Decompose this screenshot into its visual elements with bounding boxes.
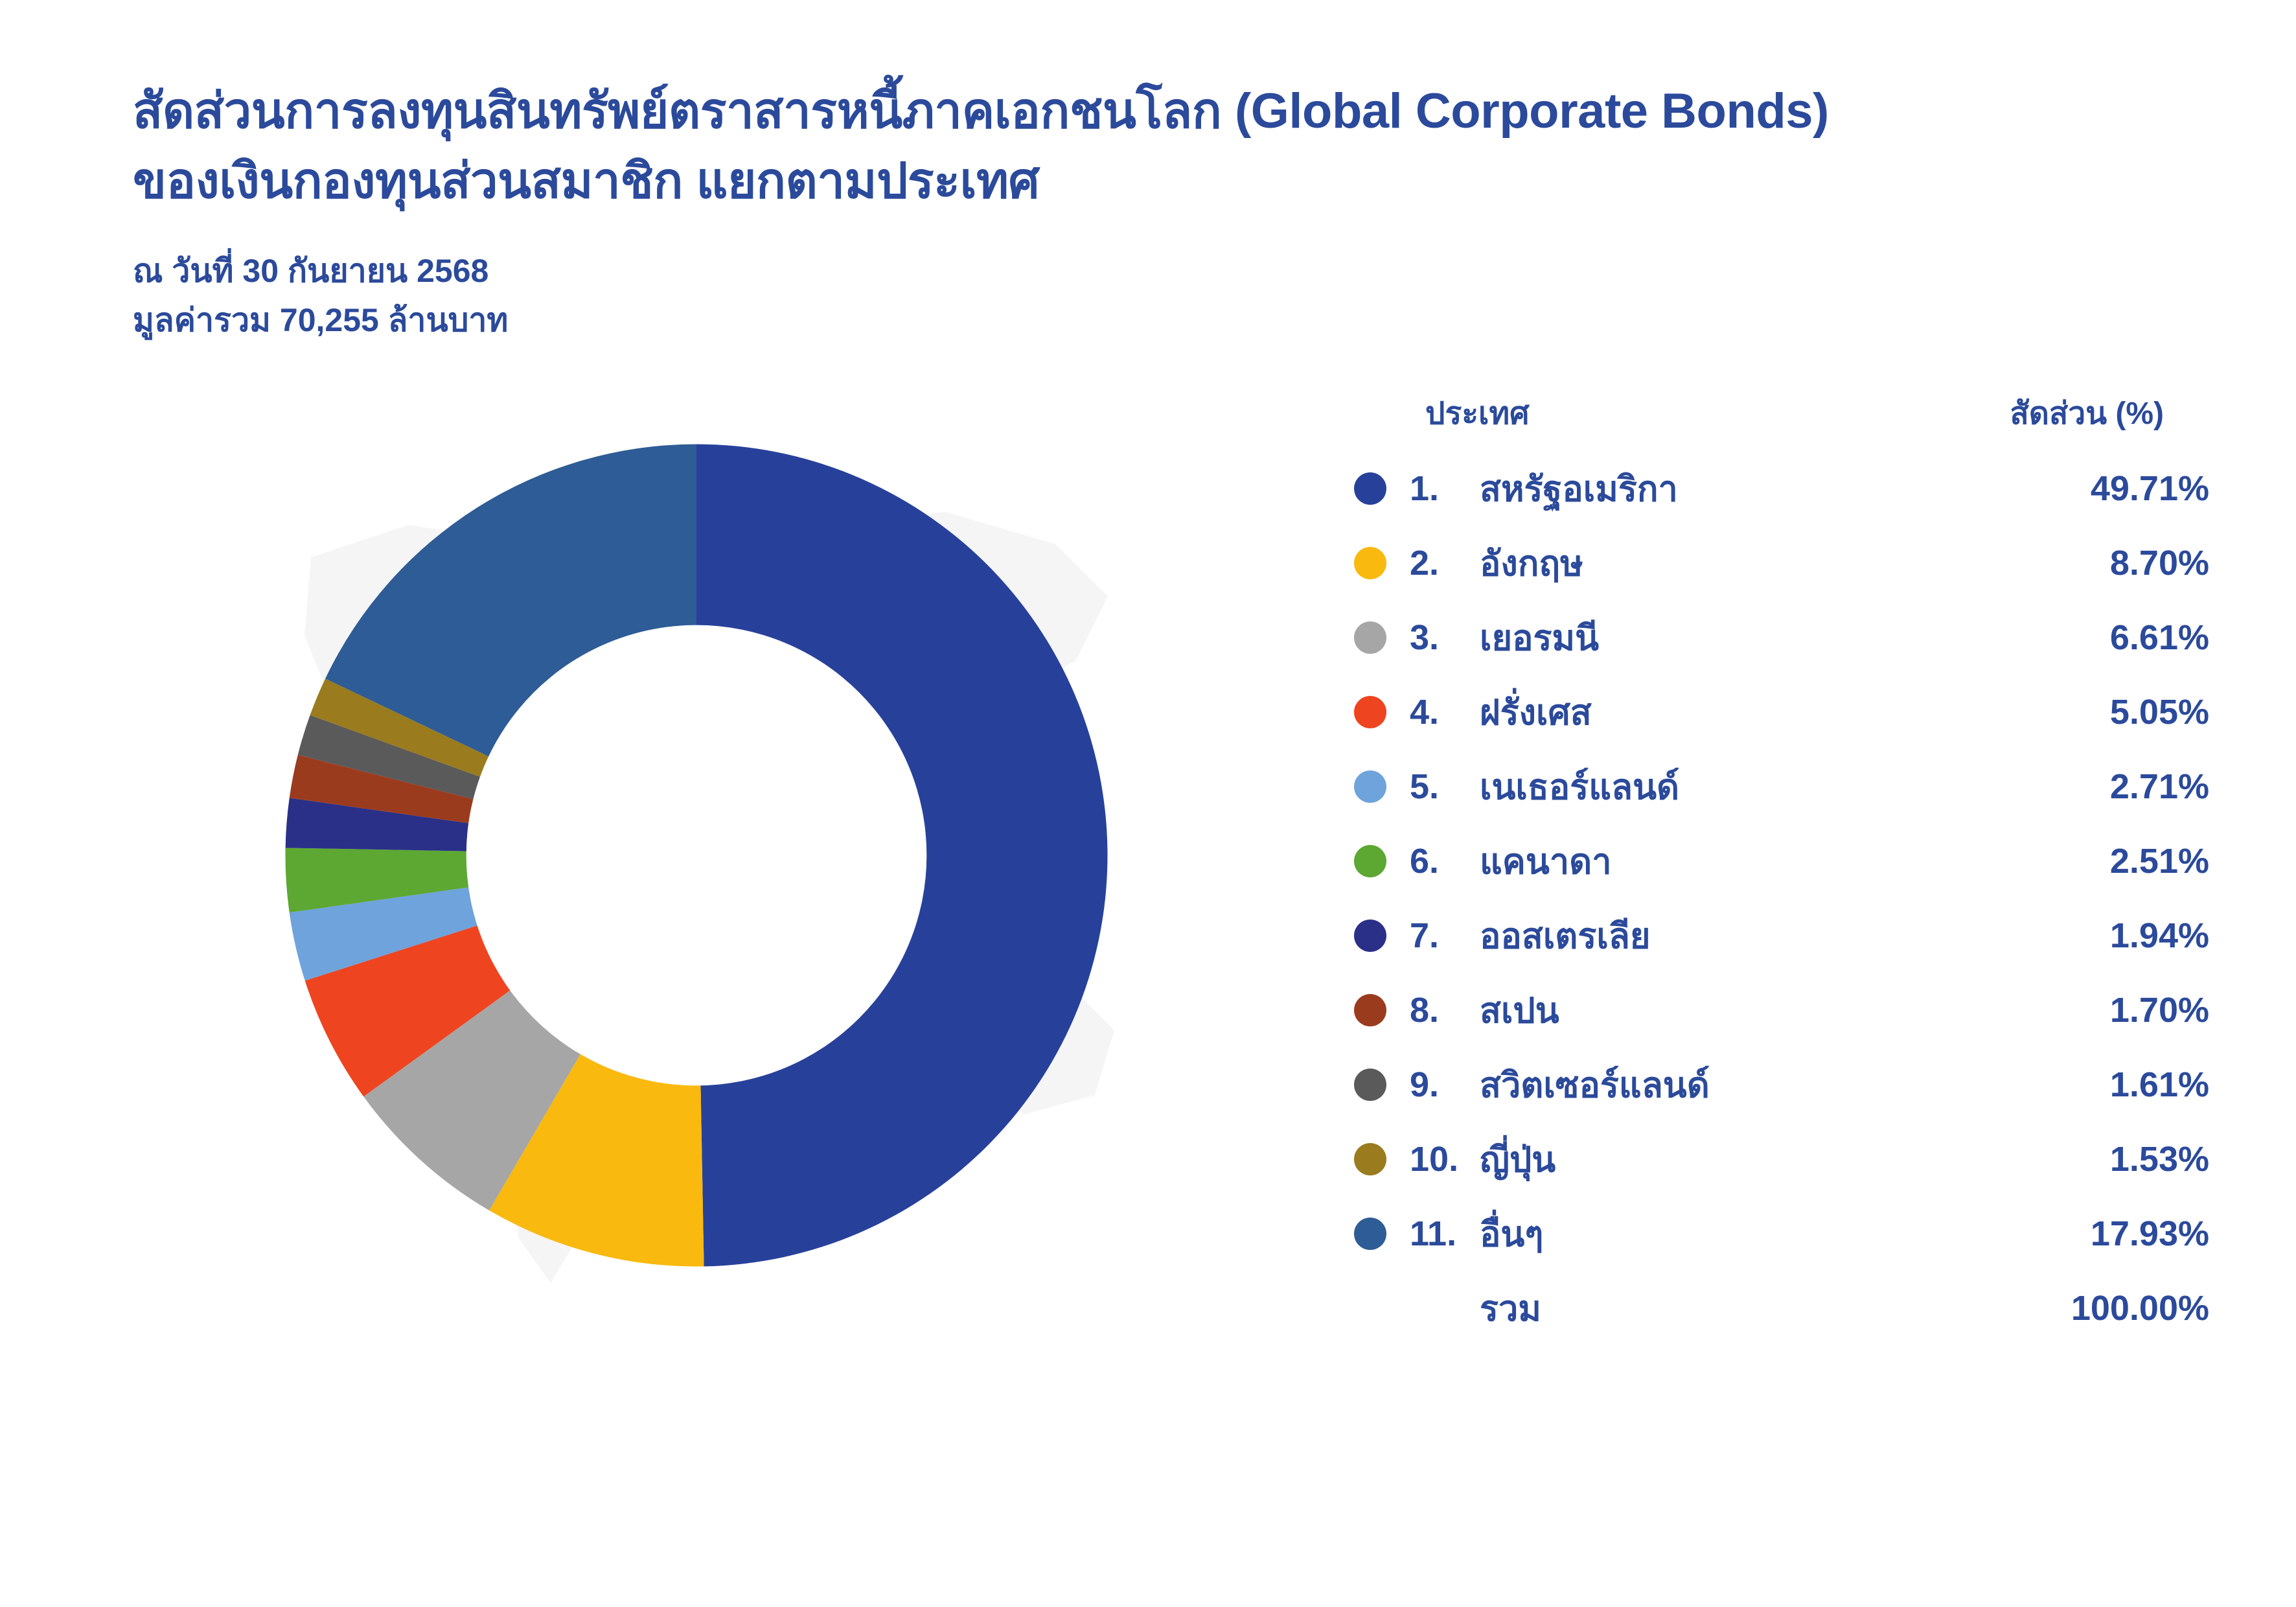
legend-color-swatch-cell <box>1354 770 1410 803</box>
legend-share-value: 1.53% <box>1905 1139 2209 1179</box>
legend-country-name: ออสเตรเลีย <box>1480 908 1905 964</box>
legend-country-name: อังกฤษ <box>1480 535 1905 591</box>
legend-bullet-icon <box>1354 1218 1386 1250</box>
legend-item-3[interactable]: 3.เยอรมนี6.61% <box>1354 600 2209 675</box>
legend-share-value: 49.71% <box>1905 468 2209 509</box>
legend-rank: 2. <box>1410 543 1480 583</box>
legend-item-7[interactable]: 7.ออสเตรเลีย1.94% <box>1354 898 2209 973</box>
legend-share-value: 6.61% <box>1905 618 2209 658</box>
legend-color-swatch-cell <box>1354 1218 1410 1250</box>
legend-country-name: สหรัฐอเมริกา <box>1480 461 1905 516</box>
legend-color-swatch-cell <box>1354 547 1410 579</box>
legend-bullet-icon <box>1354 472 1386 505</box>
legend-item-11[interactable]: 11.อื่นๆ17.93% <box>1354 1196 2209 1271</box>
page-title-line-2: ของเงินกองทุนส่วนสมาชิก แยกตามประเทศ <box>133 146 2012 216</box>
legend-rank: 8. <box>1410 990 1480 1030</box>
legend-rank: 4. <box>1410 692 1480 732</box>
legend-bullet-icon <box>1354 770 1386 803</box>
legend-share-value: 5.05% <box>1905 692 2209 732</box>
legend-header-country: ประเทศ <box>1354 389 1801 438</box>
legend-item-5[interactable]: 5.เนเธอร์แลนด์2.71% <box>1354 749 2209 824</box>
legend-table: ประเทศ สัดส่วน (%) 1.สหรัฐอเมริกา49.71%2… <box>1354 389 2209 1345</box>
legend-total-row: รวม 100.00% <box>1354 1271 2209 1345</box>
legend-total-label: รวม <box>1354 1280 1905 1336</box>
subtitle-block: ณ วันที่ 30 กันยายน 2568 มูลค่ารวม 70,25… <box>133 246 2012 345</box>
legend-item-8[interactable]: 8.สเปน1.70% <box>1354 973 2209 1047</box>
legend-item-4[interactable]: 4.ฝรั่งเศส5.05% <box>1354 675 2209 749</box>
legend-share-value: 2.51% <box>1905 841 2209 881</box>
subtitle-date: ณ วันที่ 30 กันยายน 2568 <box>133 246 2012 295</box>
page-title-line-1: สัดส่วนการลงทุนสินทรัพย์ตราสารหนี้ภาคเอก… <box>133 76 2012 146</box>
legend-color-swatch-cell <box>1354 994 1410 1026</box>
legend-color-swatch-cell <box>1354 1143 1410 1175</box>
legend-rank: 5. <box>1410 767 1480 807</box>
donut-chart-area <box>214 363 1186 1374</box>
legend-country-name: สวิตเซอร์แลนด์ <box>1480 1057 1905 1113</box>
legend-share-value: 8.70% <box>1905 543 2209 583</box>
legend-color-swatch-cell <box>1354 845 1410 877</box>
chart-page: สัดส่วนการลงทุนสินทรัพย์ตราสารหนี้ภาคเอก… <box>0 0 2296 1607</box>
legend-bullet-icon <box>1354 994 1386 1026</box>
legend-header-share: สัดส่วน (%) <box>1801 389 2164 438</box>
legend-country-name: ฝรั่งเศส <box>1480 684 1905 740</box>
legend-total-value: 100.00% <box>1905 1288 2209 1328</box>
legend-color-swatch-cell <box>1354 621 1410 654</box>
legend-country-name: แคนาดา <box>1480 833 1905 889</box>
page-header: สัดส่วนการลงทุนสินทรัพย์ตราสารหนี้ภาคเอก… <box>133 76 2012 345</box>
legend-item-9[interactable]: 9.สวิตเซอร์แลนด์1.61% <box>1354 1047 2209 1122</box>
legend-item-6[interactable]: 6.แคนาดา2.51% <box>1354 824 2209 898</box>
legend-country-name: ญี่ปุ่น <box>1480 1131 1905 1187</box>
legend-item-10[interactable]: 10.ญี่ปุ่น1.53% <box>1354 1122 2209 1196</box>
legend-country-name: สเปน <box>1480 982 1905 1038</box>
legend-rank: 10. <box>1410 1139 1480 1179</box>
legend-country-name: เยอรมนี <box>1480 610 1905 665</box>
legend-share-value: 2.71% <box>1905 767 2209 807</box>
legend-bullet-icon <box>1354 845 1386 877</box>
legend-rank: 7. <box>1410 916 1480 956</box>
legend-share-value: 17.93% <box>1905 1214 2209 1254</box>
legend-share-value: 1.94% <box>1905 916 2209 956</box>
legend-share-value: 1.70% <box>1905 990 2209 1030</box>
legend-bullet-icon <box>1354 1143 1386 1175</box>
donut-chart <box>240 399 1153 1312</box>
legend-rank: 11. <box>1410 1214 1480 1254</box>
legend-rank: 6. <box>1410 841 1480 881</box>
legend-color-swatch-cell <box>1354 696 1410 728</box>
legend-country-name: อื่นๆ <box>1480 1206 1905 1262</box>
donut-hole <box>466 625 927 1086</box>
legend-color-swatch-cell <box>1354 1069 1410 1101</box>
subtitle-total-value: มูลค่ารวม 70,255 ล้านบาท <box>133 295 2012 345</box>
legend-rank: 1. <box>1410 468 1480 509</box>
legend-item-2[interactable]: 2.อังกฤษ8.70% <box>1354 526 2209 600</box>
legend-rank: 3. <box>1410 618 1480 658</box>
legend-color-swatch-cell <box>1354 919 1410 952</box>
legend-bullet-icon <box>1354 547 1386 579</box>
legend-rank: 9. <box>1410 1065 1480 1105</box>
legend-bullet-icon <box>1354 919 1386 952</box>
legend-row-group: 1.สหรัฐอเมริกา49.71%2.อังกฤษ8.70%3.เยอรม… <box>1354 451 2209 1271</box>
legend-header-row: ประเทศ สัดส่วน (%) <box>1354 389 2209 451</box>
legend-bullet-icon <box>1354 1069 1386 1101</box>
legend-color-swatch-cell <box>1354 472 1410 505</box>
legend-bullet-icon <box>1354 696 1386 728</box>
legend-item-1[interactable]: 1.สหรัฐอเมริกา49.71% <box>1354 451 2209 526</box>
legend-share-value: 1.61% <box>1905 1065 2209 1105</box>
legend-bullet-icon <box>1354 621 1386 654</box>
legend-country-name: เนเธอร์แลนด์ <box>1480 759 1905 815</box>
